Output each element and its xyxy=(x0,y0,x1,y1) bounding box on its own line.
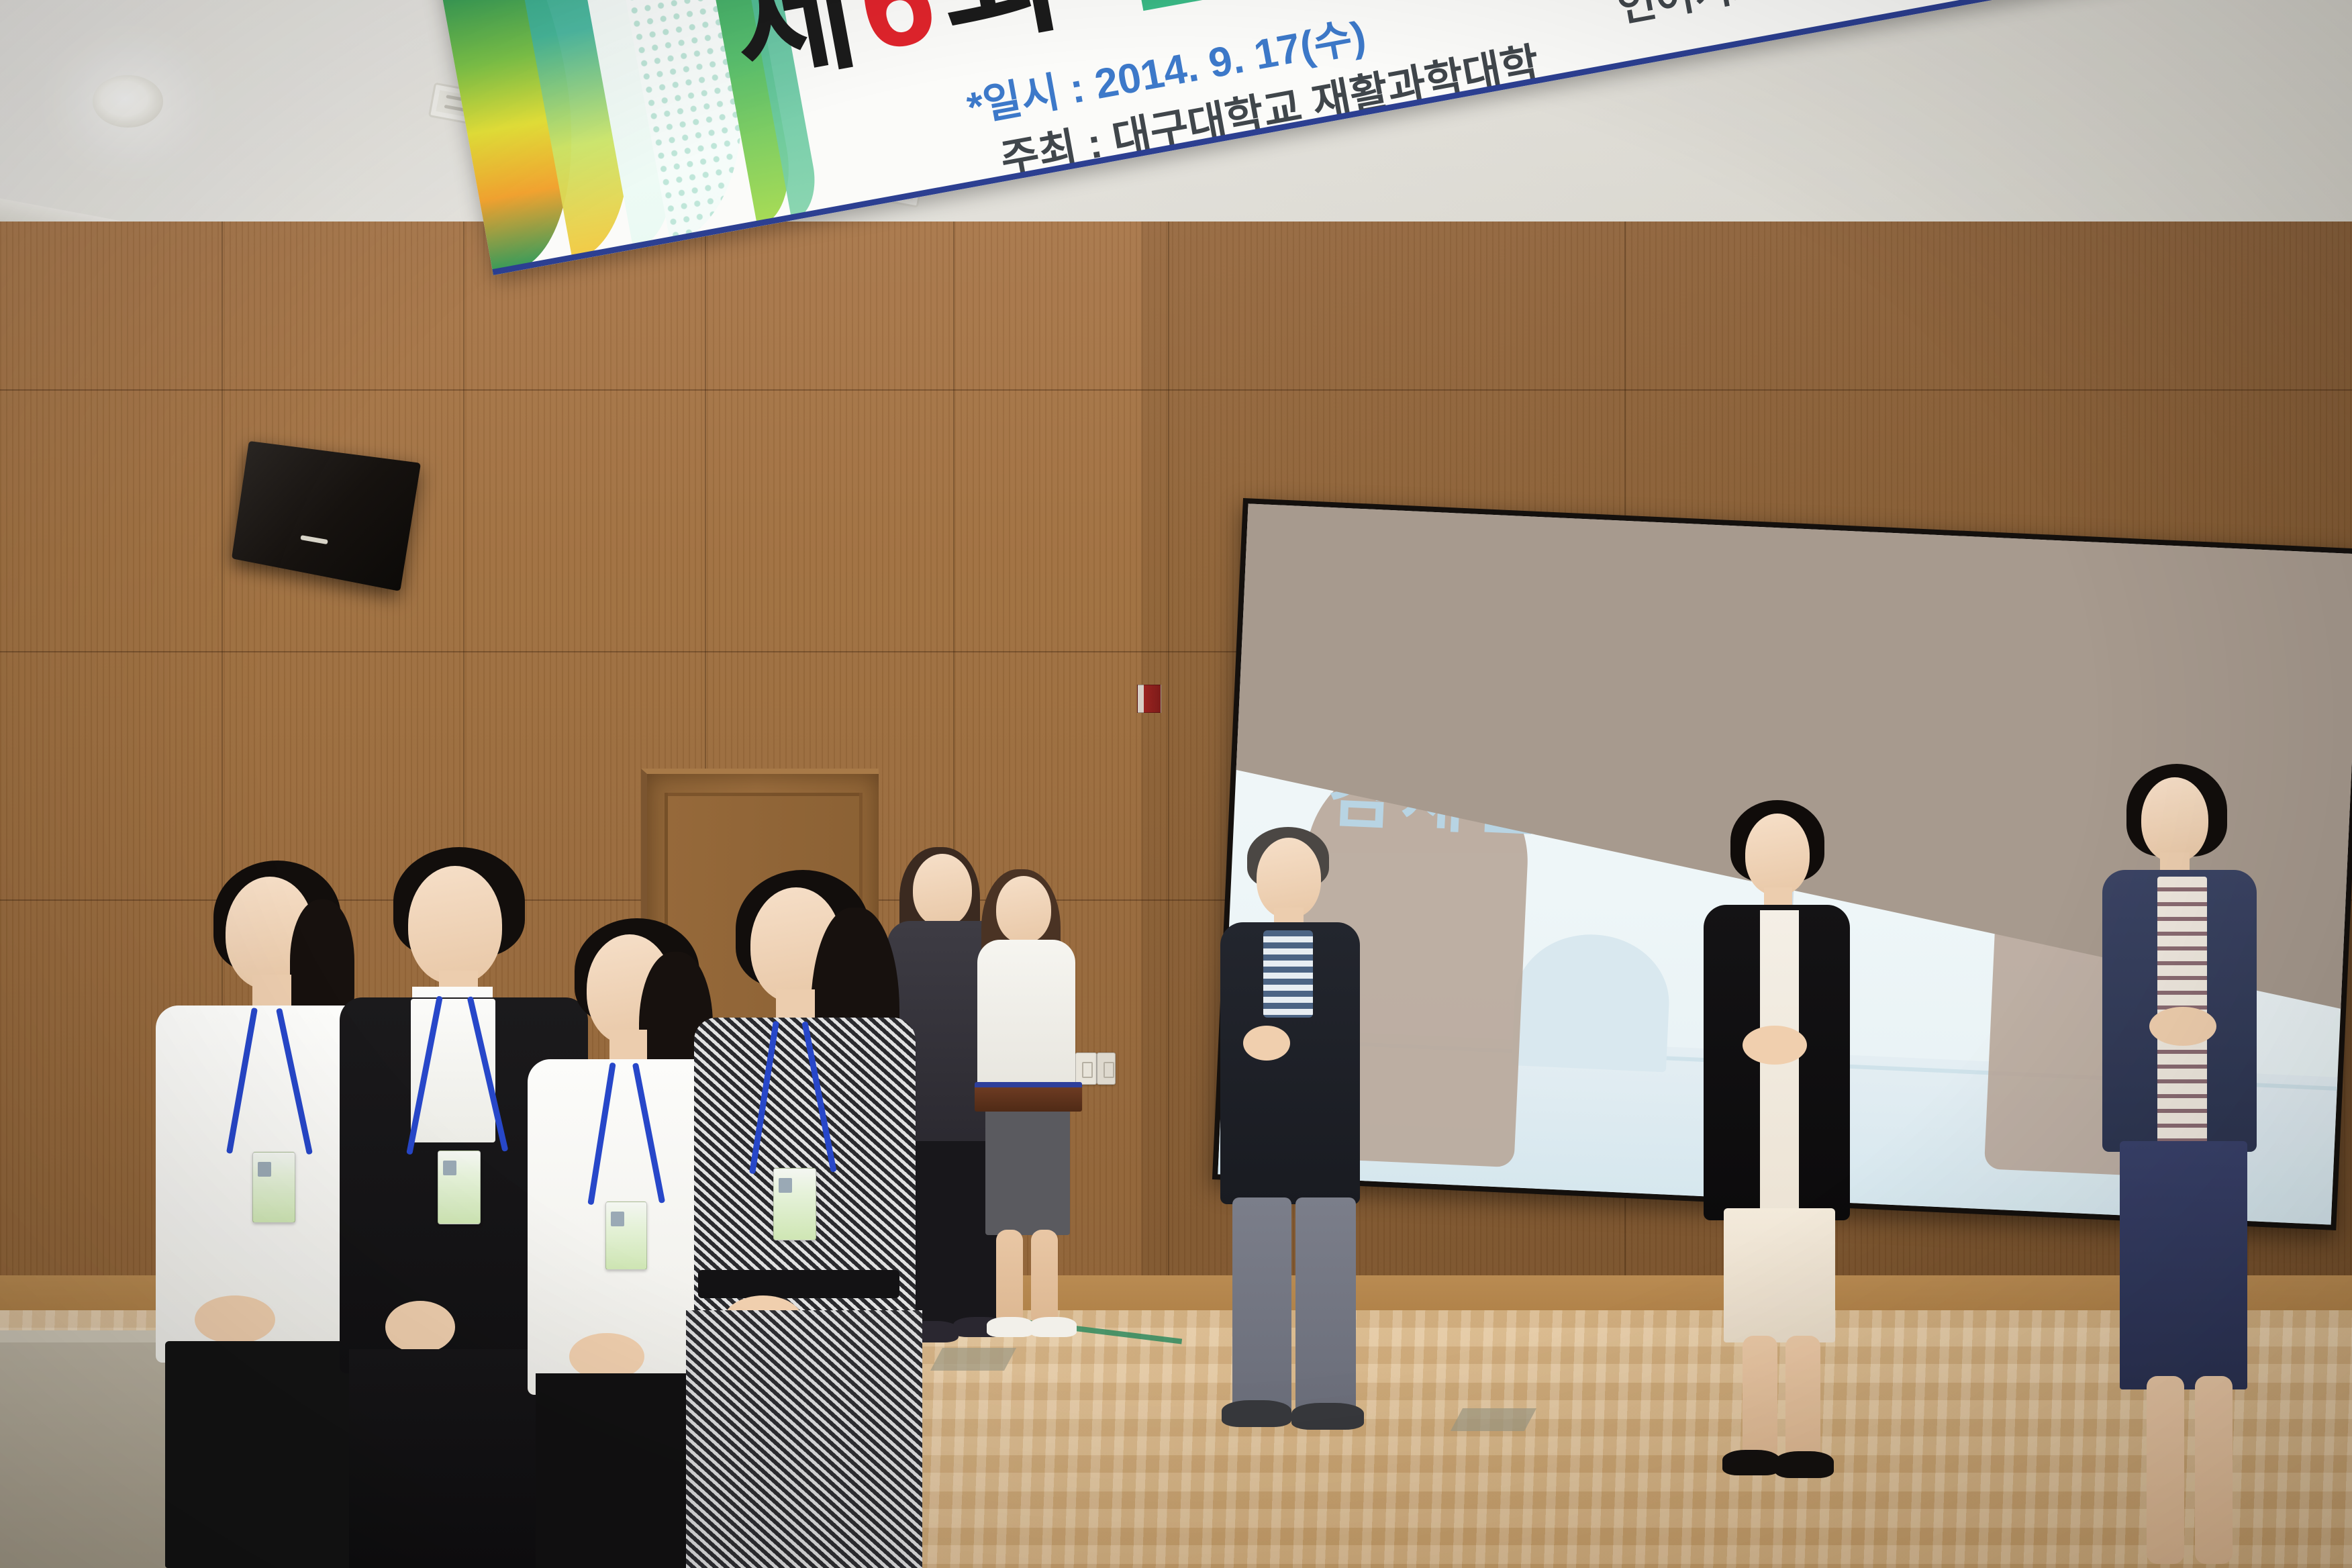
floor-inlay xyxy=(1451,1408,1536,1431)
patterned-skirt xyxy=(686,1310,922,1568)
downlight-icon xyxy=(93,75,163,128)
floor-inlay xyxy=(930,1348,1016,1371)
ceremony-photograph: 졸업생 명단 김재원 명지영 제6회 언어치료사 선서식 *일시 : 2014.… xyxy=(0,0,2352,1568)
striped-shirt xyxy=(1263,930,1313,1018)
dress-front xyxy=(1760,910,1799,1232)
id-badge xyxy=(252,1152,295,1223)
award-plaque xyxy=(975,1082,1082,1112)
wall-outlet-icon xyxy=(1075,1052,1097,1085)
fire-alarm-icon xyxy=(1137,685,1161,713)
id-badge xyxy=(605,1202,647,1270)
waist-belt xyxy=(698,1270,899,1298)
id-badge xyxy=(773,1168,816,1240)
trouser-leg xyxy=(1232,1197,1291,1419)
screen-bush-icon xyxy=(1512,931,1672,1072)
wall-outlet-icon xyxy=(1097,1052,1116,1085)
trouser-leg xyxy=(1295,1197,1356,1419)
id-badge xyxy=(438,1150,481,1224)
